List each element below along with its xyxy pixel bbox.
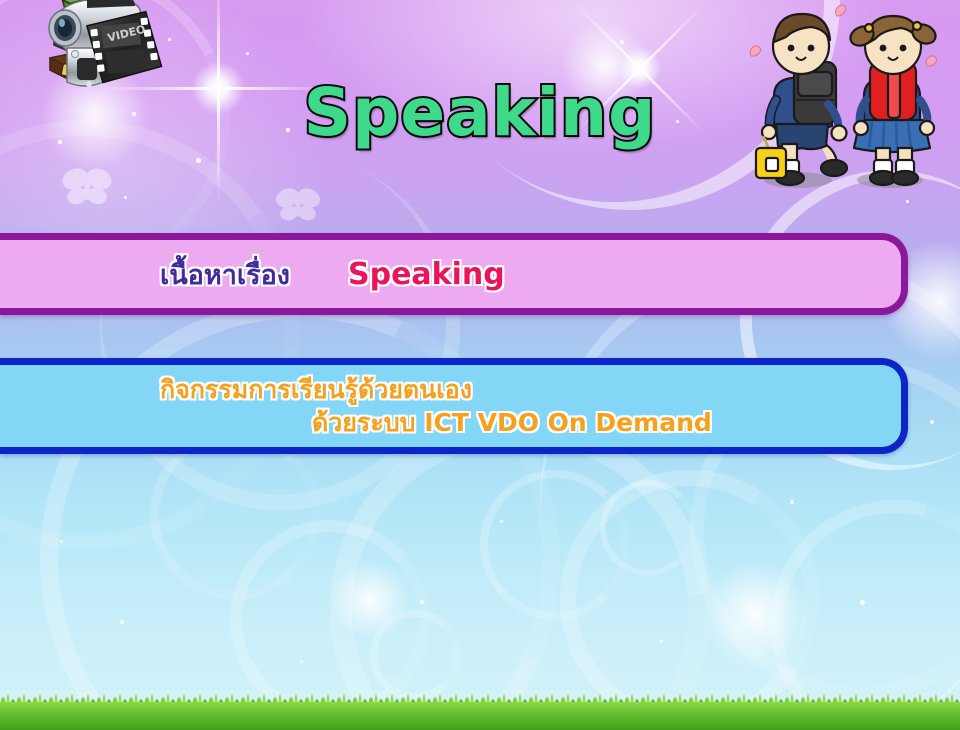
slide-root: Speaking เนื้อหาเรื่อง Speaking #bar-con… (0, 0, 960, 730)
butterfly-icon (58, 165, 116, 213)
content-bar-english-label: Speaking (348, 257, 505, 292)
activity-bar-text: กิจกรรมการเรียนรู้ด้วยตนเอง ด้วยระบบ ICT… (160, 373, 712, 439)
school-kids-illustration (730, 0, 960, 204)
video-camera-icon: VIDEO (33, 0, 163, 106)
activity-bar[interactable]: กิจกรรมการเรียนรู้ด้วยตนเอง ด้วยระบบ ICT… (0, 358, 908, 454)
activity-bar-line-1: กิจกรรมการเรียนรู้ด้วยตนเอง (160, 373, 712, 406)
content-bar-thai-label: เนื้อหาเรื่อง (160, 253, 290, 296)
butterfly-icon (272, 185, 324, 229)
grass-strip (0, 702, 960, 730)
activity-bar-line-2: ด้วยระบบ ICT VDO On Demand (160, 406, 712, 439)
content-bar[interactable]: เนื้อหาเรื่อง Speaking (0, 233, 908, 315)
